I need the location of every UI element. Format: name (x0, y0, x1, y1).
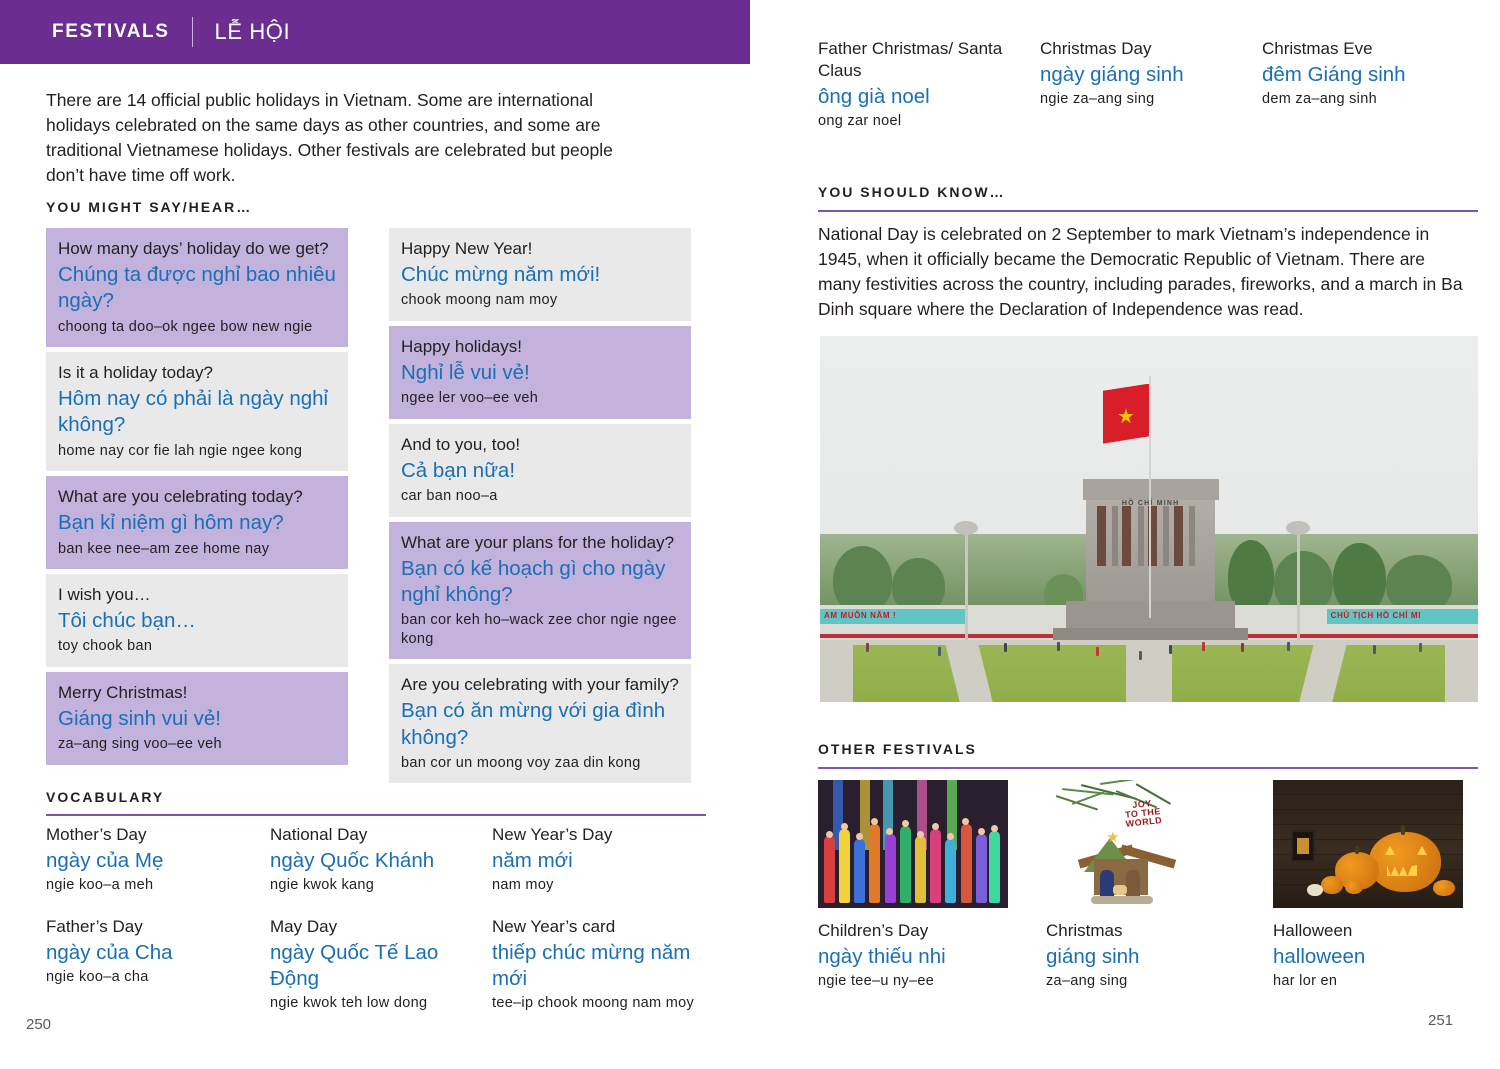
phrase-card: Happy New Year! Chúc mừng năm mới! chook… (389, 228, 691, 321)
header-inner: FESTIVALS LỄ HỘI (52, 0, 290, 64)
photo-lamp-post-left (965, 526, 968, 639)
section-label-vocabulary: VOCABULARY (46, 789, 164, 805)
halloween-pumpkins-photo (1273, 780, 1463, 908)
other-festival-pronunciation: har lor en (1273, 972, 1473, 990)
lantern-icon (1291, 830, 1315, 862)
joy-to-the-world-ornament-icon: JOYTO THEWORLD (1115, 798, 1172, 830)
vocabulary-english: May Day (270, 916, 478, 938)
phrase-english: What are you celebrating today? (58, 486, 336, 508)
phrase-vietnamese: Bạn có ăn mừng với gia đình không? (401, 698, 679, 750)
photo-lamp-post-right (1297, 526, 1300, 639)
phrase-pronunciation: toy chook ban (58, 637, 336, 656)
vocabulary-entry: May Day ngày Quốc Tế Lao Động ngie kwok … (270, 916, 492, 1012)
phrase-pronunciation: ban cor keh ho–wack zee chor ngie ngee k… (401, 611, 679, 648)
phrase-english: Merry Christmas! (58, 682, 336, 704)
section-label-you-should-know: YOU SHOULD KNOW… (818, 184, 1006, 200)
photo-flagpole (1149, 376, 1151, 618)
vocabulary-pronunciation: ngie za–ang sing (1040, 90, 1262, 108)
flag-star-icon: ★ (1117, 407, 1135, 427)
section-label-you-might-say: YOU MIGHT SAY/HEAR… (46, 199, 252, 215)
phrase-card: And to you, too! Cả bạn nữa! car ban noo… (389, 424, 691, 517)
vocabulary-grid: Mother’s Day ngày của Mẹ ngie koo–a meh … (46, 824, 711, 1034)
other-festivals-divider (818, 767, 1478, 769)
vocabulary-vietnamese: ông già noel (818, 84, 1040, 110)
other-festival-card: Children’s Day ngày thiếu nhi ngie tee–u… (818, 780, 1018, 990)
phrase-vietnamese: Bạn kỉ niệm gì hôm nay? (58, 510, 336, 536)
vocabulary-entry: New Year’s Day năm mới nam moy (492, 824, 711, 894)
vocabulary-english: New Year’s Day (492, 824, 697, 846)
phrase-english: Happy holidays! (401, 336, 679, 358)
vocabulary-entry: National Day ngày Quốc Khánh ngie kwok k… (270, 824, 492, 894)
other-festival-caption: Christmas giáng sinh za–ang sing (1046, 920, 1246, 990)
vocabulary-entry: Mother’s Day ngày của Mẹ ngie koo–a meh (46, 824, 270, 894)
phrase-pronunciation: choong ta doo–ok ngee bow new ngie (58, 318, 336, 337)
phrase-card: Is it a holiday today? Hôm nay có phải l… (46, 352, 348, 471)
other-festival-vietnamese: halloween (1273, 944, 1473, 970)
vocabulary-vietnamese: thiếp chúc mừng năm mới (492, 940, 697, 992)
phrase-english: What are your plans for the holiday? (401, 532, 679, 554)
vocabulary-vietnamese: năm mới (492, 848, 697, 874)
vocabulary-vietnamese: ngày của Cha (46, 940, 256, 966)
phrase-card: What are you celebrating today? Bạn kỉ n… (46, 476, 348, 569)
phrase-card: I wish you… Tôi chúc bạn… toy chook ban (46, 574, 348, 667)
vocabulary-pronunciation: ngie kwok kang (270, 876, 478, 894)
phrase-card: How many days’ holiday do we get? Chúng … (46, 228, 348, 347)
intro-paragraph: There are 14 official public holidays in… (46, 88, 646, 187)
left-page: FESTIVALS LỄ HỘI There are 14 official p… (0, 0, 750, 1069)
spread-page: FESTIVALS LỄ HỘI There are 14 official p… (0, 0, 1500, 1069)
other-festival-card: JOYTO THEWORLD Christmas giáng sin (1046, 780, 1246, 990)
vocabulary-vietnamese: ngày của Mẹ (46, 848, 256, 874)
other-festival-caption: Halloween halloween har lor en (1273, 920, 1473, 990)
phrase-card: Are you celebrating with your family? Bạ… (389, 664, 691, 783)
phrase-vietnamese: Cả bạn nữa! (401, 458, 679, 484)
other-festival-english: Halloween (1273, 920, 1473, 942)
phrase-english: And to you, too! (401, 434, 679, 456)
phrase-vietnamese: Hôm nay có phải là ngày nghỉ không? (58, 386, 336, 438)
phrase-pronunciation: ban kee nee–am zee home nay (58, 540, 336, 559)
other-festival-caption: Children’s Day ngày thiếu nhi ngie tee–u… (818, 920, 1018, 990)
vocabulary-entry: Father’s Day ngày của Cha ngie koo–a cha (46, 916, 270, 1012)
vocabulary-pronunciation: ngie kwok teh low dong (270, 994, 478, 1012)
phrase-english: Happy New Year! (401, 238, 679, 260)
banner-left-text: AM MUÔN NĂM ! (820, 609, 965, 623)
phrase-pronunciation: car ban noo–a (401, 487, 679, 506)
phrase-column-left: How many days’ holiday do we get? Chúng … (46, 228, 348, 770)
phrase-vietnamese: Bạn có kế hoạch gì cho ngày nghỉ không? (401, 556, 679, 608)
vocabulary-entry: New Year’s card thiếp chúc mừng năm mới … (492, 916, 711, 1012)
phrase-pronunciation: za–ang sing voo–ee veh (58, 735, 336, 754)
vocabulary-pronunciation: tee–ip chook moong nam moy (492, 994, 697, 1012)
vocabulary-english: Christmas Eve (1262, 38, 1478, 60)
right-page: Father Christmas/ Santa Claus ông già no… (750, 0, 1500, 1069)
vocabulary-pronunciation: ngie koo–a cha (46, 968, 256, 986)
other-festival-pronunciation: za–ang sing (1046, 972, 1246, 990)
you-should-know-text: National Day is celebrated on 2 Septembe… (818, 222, 1463, 321)
page-title: FESTIVALS (52, 21, 170, 43)
phrase-card: What are your plans for the holiday? Bạn… (389, 522, 691, 660)
other-festival-english: Children’s Day (818, 920, 1018, 942)
phrase-vietnamese: Chúc mừng năm mới! (401, 262, 679, 288)
phrase-card: Happy holidays! Nghỉ lễ vui vẻ! ngee ler… (389, 326, 691, 419)
header-divider (192, 17, 193, 47)
phrase-vietnamese: Giáng sinh vui vẻ! (58, 706, 336, 732)
phrase-column-right: Happy New Year! Chúc mừng năm mới! chook… (389, 228, 691, 788)
phrase-english: I wish you… (58, 584, 336, 606)
christmas-nativity-photo: JOYTO THEWORLD (1046, 780, 1206, 908)
page-number-right: 251 (1428, 1012, 1453, 1029)
phrase-pronunciation: chook moong nam moy (401, 291, 679, 310)
vocabulary-vietnamese: đêm Giáng sinh (1262, 62, 1478, 88)
festivals-header-bar: FESTIVALS LỄ HỘI (0, 0, 750, 64)
phrase-pronunciation: ngee ler voo–ee veh (401, 389, 679, 408)
vocabulary-english: Mother’s Day (46, 824, 256, 846)
mausoleum-photo: AM MUÔN NĂM ! CHỦ TỊCH HỒ CHÍ MI HỒ CHÍ … (820, 336, 1478, 702)
vocabulary-pronunciation: nam moy (492, 876, 697, 894)
photo-lamp-head-right (1286, 521, 1310, 535)
other-festival-vietnamese: ngày thiếu nhi (818, 944, 1018, 970)
vocabulary-pronunciation: ong zar noel (818, 112, 1040, 130)
other-festival-card: Halloween halloween har lor en (1273, 780, 1473, 990)
vocabulary-entry: Christmas Day ngày giáng sinh ngie za–an… (1040, 38, 1262, 130)
photo-lawn (820, 640, 1478, 702)
photo-lamp-head-left (954, 521, 978, 535)
vocabulary-english: Father Christmas/ Santa Claus (818, 38, 1040, 82)
other-festival-vietnamese: giáng sinh (1046, 944, 1246, 970)
banner-right-text: CHỦ TỊCH HỒ CHÍ MI (1327, 609, 1478, 623)
vocabulary-divider (46, 814, 706, 816)
phrase-english: Are you celebrating with your family? (401, 674, 679, 696)
page-number-left: 250 (26, 1016, 51, 1033)
jack-o-lantern-icon (1369, 832, 1441, 892)
phrase-english: How many days’ holiday do we get? (58, 238, 336, 260)
other-festival-pronunciation: ngie tee–u ny–ee (818, 972, 1018, 990)
vocabulary-pronunciation: ngie koo–a meh (46, 876, 256, 894)
section-label-other-festivals: OTHER FESTIVALS (818, 741, 977, 757)
photo-banner-left: AM MUÔN NĂM ! (820, 609, 965, 624)
vocabulary-english: Christmas Day (1040, 38, 1262, 60)
vocabulary-entry: Christmas Eve đêm Giáng sinh dem za–ang … (1262, 38, 1478, 130)
phrase-vietnamese: Tôi chúc bạn… (58, 608, 336, 634)
photo-banner-right: CHỦ TỊCH HỒ CHÍ MI (1327, 609, 1478, 624)
vocabulary-english: New Year’s card (492, 916, 697, 938)
phrase-vietnamese: Chúng ta được nghỉ bao nhiêu ngày? (58, 262, 336, 314)
phrase-pronunciation: ban cor un moong voy zaa din kong (401, 754, 679, 773)
vocabulary-pronunciation: dem za–ang sinh (1262, 90, 1478, 108)
other-festival-english: Christmas (1046, 920, 1246, 942)
phrase-card: Merry Christmas! Giáng sinh vui vẻ! za–a… (46, 672, 348, 765)
vocabulary-english: National Day (270, 824, 478, 846)
you-should-know-divider (818, 210, 1478, 212)
christmas-vocabulary-row: Father Christmas/ Santa Claus ông già no… (818, 38, 1478, 130)
vocabulary-vietnamese: ngày Quốc Khánh (270, 848, 478, 874)
vocabulary-vietnamese: ngày giáng sinh (1040, 62, 1262, 88)
phrase-vietnamese: Nghỉ lễ vui vẻ! (401, 360, 679, 386)
phrase-english: Is it a holiday today? (58, 362, 336, 384)
childrens-day-photo (818, 780, 1008, 908)
vocabulary-english: Father’s Day (46, 916, 256, 938)
page-title-vietnamese: LỄ HỘI (215, 19, 291, 45)
phrase-pronunciation: home nay cor fie lah ngie ngee kong (58, 442, 336, 461)
vocabulary-entry: Father Christmas/ Santa Claus ông già no… (818, 38, 1040, 130)
vocabulary-vietnamese: ngày Quốc Tế Lao Động (270, 940, 478, 992)
